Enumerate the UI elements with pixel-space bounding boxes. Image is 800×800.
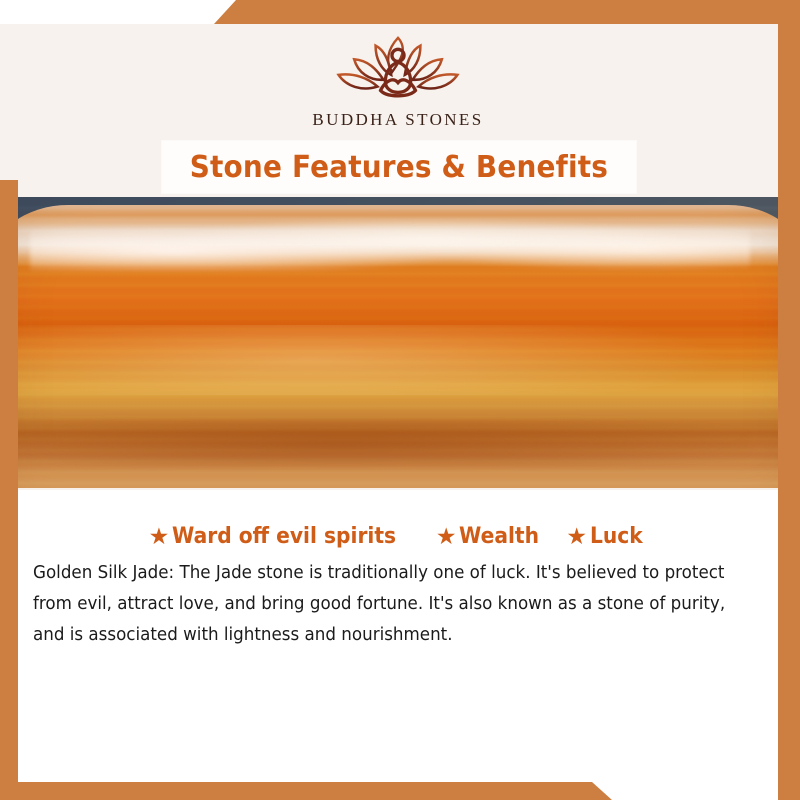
frame-right-band [778, 0, 800, 800]
brand-header: BUDDHA STONES [18, 24, 778, 146]
poster-canvas: BUDDHA STONES Stone Features & Benefits … [0, 0, 800, 800]
benefit-label: Wealth [459, 524, 539, 549]
star-icon: ★ [436, 525, 457, 548]
lotus-meditation-logo-icon [323, 30, 473, 108]
page-title: Stone Features & Benefits [190, 150, 608, 185]
benefit-item: ★ Luck [566, 524, 647, 549]
stone-shadow-band [18, 420, 750, 466]
benefit-label: Ward off evil spirits [172, 524, 396, 549]
stone-white-crest [30, 219, 750, 271]
stone-description: Golden Silk Jade: The Jade stone is trad… [33, 558, 742, 651]
stone-sheen [18, 325, 778, 395]
frame-left-band [0, 180, 18, 800]
brand-name: BUDDHA STONES [312, 110, 483, 130]
star-icon: ★ [149, 525, 170, 548]
page-title-banner: Stone Features & Benefits [162, 141, 636, 193]
benefit-item: ★ Ward off evil spirits [149, 524, 416, 549]
product-photo: Golden Silk Jade [18, 197, 778, 488]
star-icon: ★ [566, 525, 587, 548]
golden-silk-jade-stone [18, 205, 778, 488]
benefits-row: ★ Ward off evil spirits ★ Wealth ★ Luck [18, 518, 778, 554]
frame-bottom-band [0, 782, 800, 800]
benefit-item: ★ Wealth [436, 524, 547, 549]
benefit-label: Luck [590, 524, 643, 549]
frame-top-band [0, 0, 800, 24]
